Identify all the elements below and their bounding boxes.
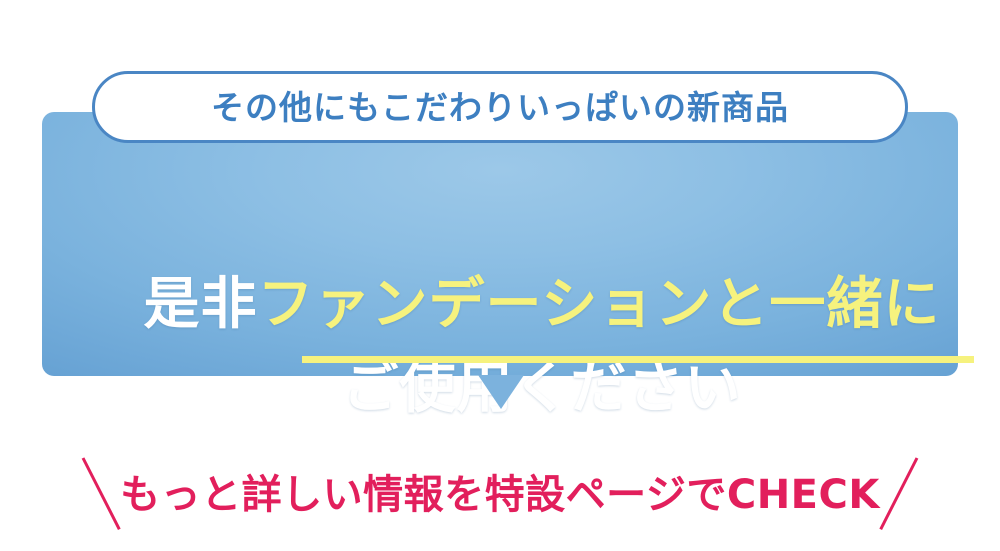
cta-row[interactable]: もっと詳しい情報を特設ページでCHECK: [0, 440, 1000, 550]
headline-prefix: 是非: [144, 272, 258, 337]
headline-highlight: ファンデーションと一緒に: [258, 272, 941, 337]
cta-label[interactable]: もっと詳しい情報を特設ページでCHECK: [106, 475, 894, 515]
slash-left-icon: [60, 452, 106, 538]
badge-label: その他にもこだわりいっぱいの新商品: [211, 91, 789, 124]
headline-underline: [302, 356, 974, 363]
slash-right-icon: [894, 452, 940, 538]
headline-line-1: 是非ファンデーションと一緒に: [84, 272, 1000, 338]
headline-group: 是非ファンデーションと一緒に ご使用ください: [84, 272, 1000, 422]
badge-pill: その他にもこだわりいっぱいの新商品: [92, 71, 908, 143]
callout-panel: 是非ファンデーションと一緒に ご使用ください: [42, 112, 958, 376]
promo-banner: 是非ファンデーションと一緒に ご使用ください その他にもこだわりいっぱいの新商品…: [0, 0, 1000, 551]
headline-line-2: ご使用ください: [84, 356, 1000, 422]
callout-tail-arrow: [478, 375, 524, 409]
